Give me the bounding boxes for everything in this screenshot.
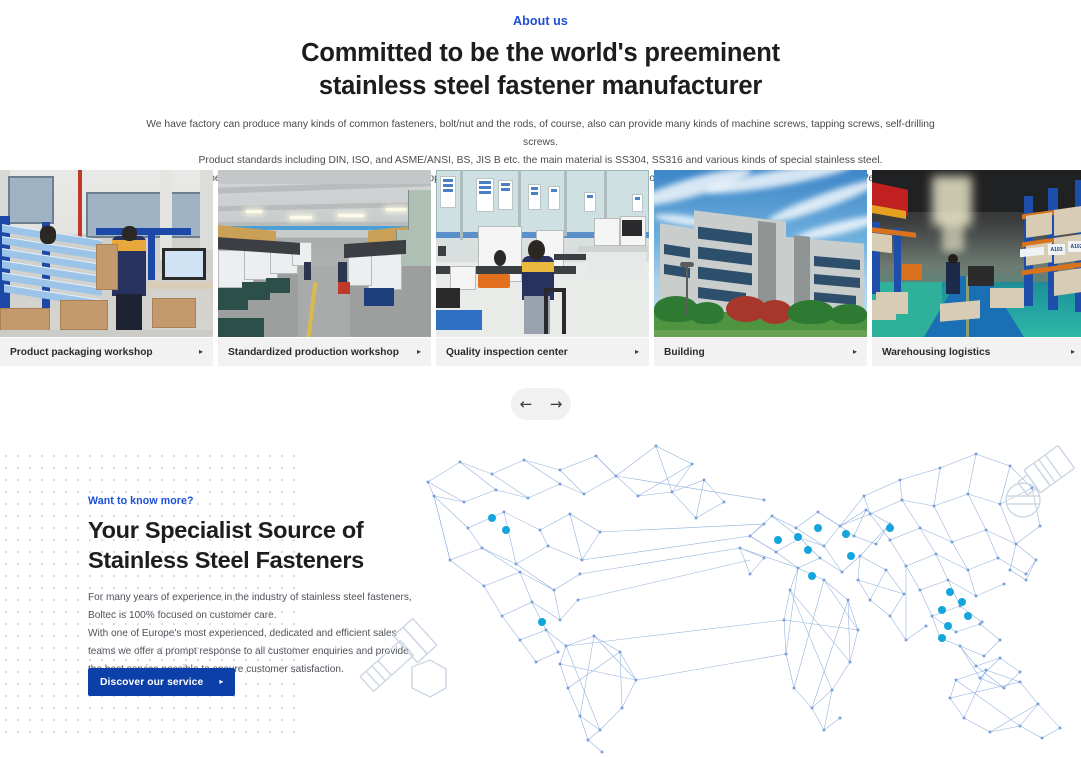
gallery-card-building[interactable]: Building ▸ <box>654 170 867 366</box>
about-eyebrow: About us <box>0 14 1081 28</box>
intro-line-1: We have factory can produce many kinds o… <box>141 116 941 152</box>
arrow-right-icon: → <box>550 397 563 412</box>
arrow-left-icon: ← <box>520 397 533 412</box>
gallery-card-caption-text: Building <box>664 347 705 358</box>
gallery-card-caption-text: Quality inspection center <box>446 347 568 358</box>
warehouse-photo[interactable]: A103 A102 <box>872 170 1081 337</box>
gallery-card-caption[interactable]: Building ▸ <box>654 338 867 366</box>
chevron-right-icon: ▸ <box>847 348 857 356</box>
gallery-card-caption[interactable]: Product packaging workshop ▸ <box>0 338 213 366</box>
promo-eyebrow: Want to know more? <box>88 495 418 507</box>
gallery-card-caption-text: Standardized production workshop <box>228 347 399 358</box>
carousel-prev-button[interactable]: ← <box>515 393 537 415</box>
world-network-map <box>420 440 1081 757</box>
gallery-card-quality-inspection-center[interactable]: Quality inspection center ▸ <box>436 170 649 366</box>
carousel-next-button[interactable]: → <box>545 393 567 415</box>
page-title: Committed to be the world's preeminent s… <box>0 37 1081 102</box>
production-workshop-photo[interactable] <box>218 170 431 337</box>
gallery-card-warehousing-logistics[interactable]: A103 A102 <box>872 170 1081 366</box>
carousel-nav: ← → <box>511 388 571 420</box>
chevron-right-icon: ▸ <box>1065 348 1075 356</box>
quality-inspection-photo[interactable] <box>436 170 649 337</box>
promo-section: Want to know more? Your Specialist Sourc… <box>0 440 1081 757</box>
chevron-right-icon: ▸ <box>629 348 639 356</box>
promo-title: Your Specialist Source of Stainless Stee… <box>88 516 418 575</box>
packaging-workshop-photo[interactable] <box>0 170 213 337</box>
gallery-card-standardized-production-workshop[interactable]: Standardized production workshop ▸ <box>218 170 431 366</box>
map-network-nodes <box>427 445 1062 754</box>
gallery-card-caption[interactable]: Quality inspection center ▸ <box>436 338 649 366</box>
warehouse-sign-label: A103 <box>1051 247 1063 253</box>
about-page: About us Committed to be the world's pre… <box>0 0 1081 757</box>
promo-title-line-2: Stainless Steel Fasteners <box>88 547 364 573</box>
gallery-card-product-packaging-workshop[interactable]: Product packaging workshop ▸ <box>0 170 213 366</box>
gallery-card-caption-text: Product packaging workshop <box>10 347 153 358</box>
cta-label: Discover our service <box>100 677 203 688</box>
chevron-right-icon: ▸ <box>219 678 223 686</box>
gallery-card-caption[interactable]: Warehousing logistics ▸ <box>872 338 1081 366</box>
gallery-carousel: Product packaging workshop ▸ <box>0 170 1081 366</box>
bolt-decoration-right <box>995 442 1081 532</box>
intro-line-2: Product standards including DIN, ISO, an… <box>141 152 941 170</box>
map-network-lines <box>428 446 1060 752</box>
gallery-card-caption-text: Warehousing logistics <box>882 347 990 358</box>
promo-title-line-1: Your Specialist Source of <box>88 517 363 543</box>
world-map-svg <box>420 440 1081 757</box>
headline-line-1: Committed to be the world's preeminent <box>301 39 780 67</box>
map-highlight-dots <box>488 514 972 642</box>
chevron-right-icon: ▸ <box>193 348 203 356</box>
warehouse-sign-label: A102 <box>1071 244 1081 250</box>
building-photo[interactable] <box>654 170 867 337</box>
headline-line-2: stainless steel fastener manufacturer <box>319 72 762 100</box>
chevron-right-icon: ▸ <box>411 348 421 356</box>
gallery-card-caption[interactable]: Standardized production workshop ▸ <box>218 338 431 366</box>
discover-our-service-button[interactable]: Discover our service ▸ <box>88 668 235 696</box>
